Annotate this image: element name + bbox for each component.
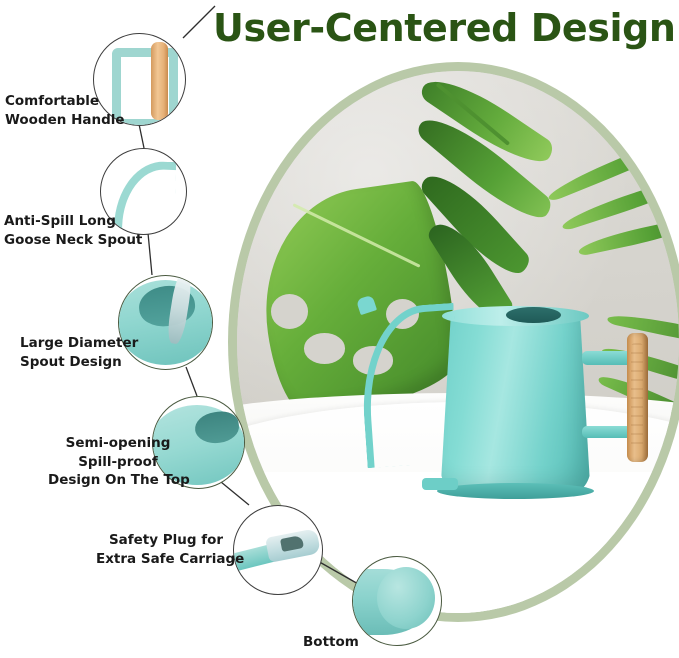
- infographic-canvas: User-Centered Design: [0, 0, 679, 658]
- can-fill-hole: [506, 307, 560, 323]
- label-semi-opening-top: Semi-opening Spill-proof Design On The T…: [48, 434, 188, 490]
- can-bottom-face-icon: [377, 567, 435, 629]
- wooden-grip-icon: [151, 42, 168, 120]
- watering-can: [440, 315, 590, 494]
- label-safety-plug: Safety Plug for Extra Safe Carriage: [96, 531, 236, 568]
- label-large-diameter-spout: Large Diameter Spout Design: [20, 334, 138, 371]
- can-base: [437, 483, 593, 499]
- callout-safety-plug[interactable]: [233, 505, 323, 595]
- can-body: [440, 315, 590, 494]
- spout-joint: [422, 478, 458, 491]
- label-bottom: Bottom: [303, 633, 359, 652]
- page-title: User-Centered Design: [213, 6, 676, 50]
- wooden-handle: [627, 333, 648, 462]
- label-wooden-handle: Comfortable Wooden Handle: [5, 92, 125, 129]
- label-goose-neck-spout: Anti-Spill Long Goose Neck Spout: [4, 212, 142, 249]
- callout-bottom[interactable]: [352, 556, 442, 646]
